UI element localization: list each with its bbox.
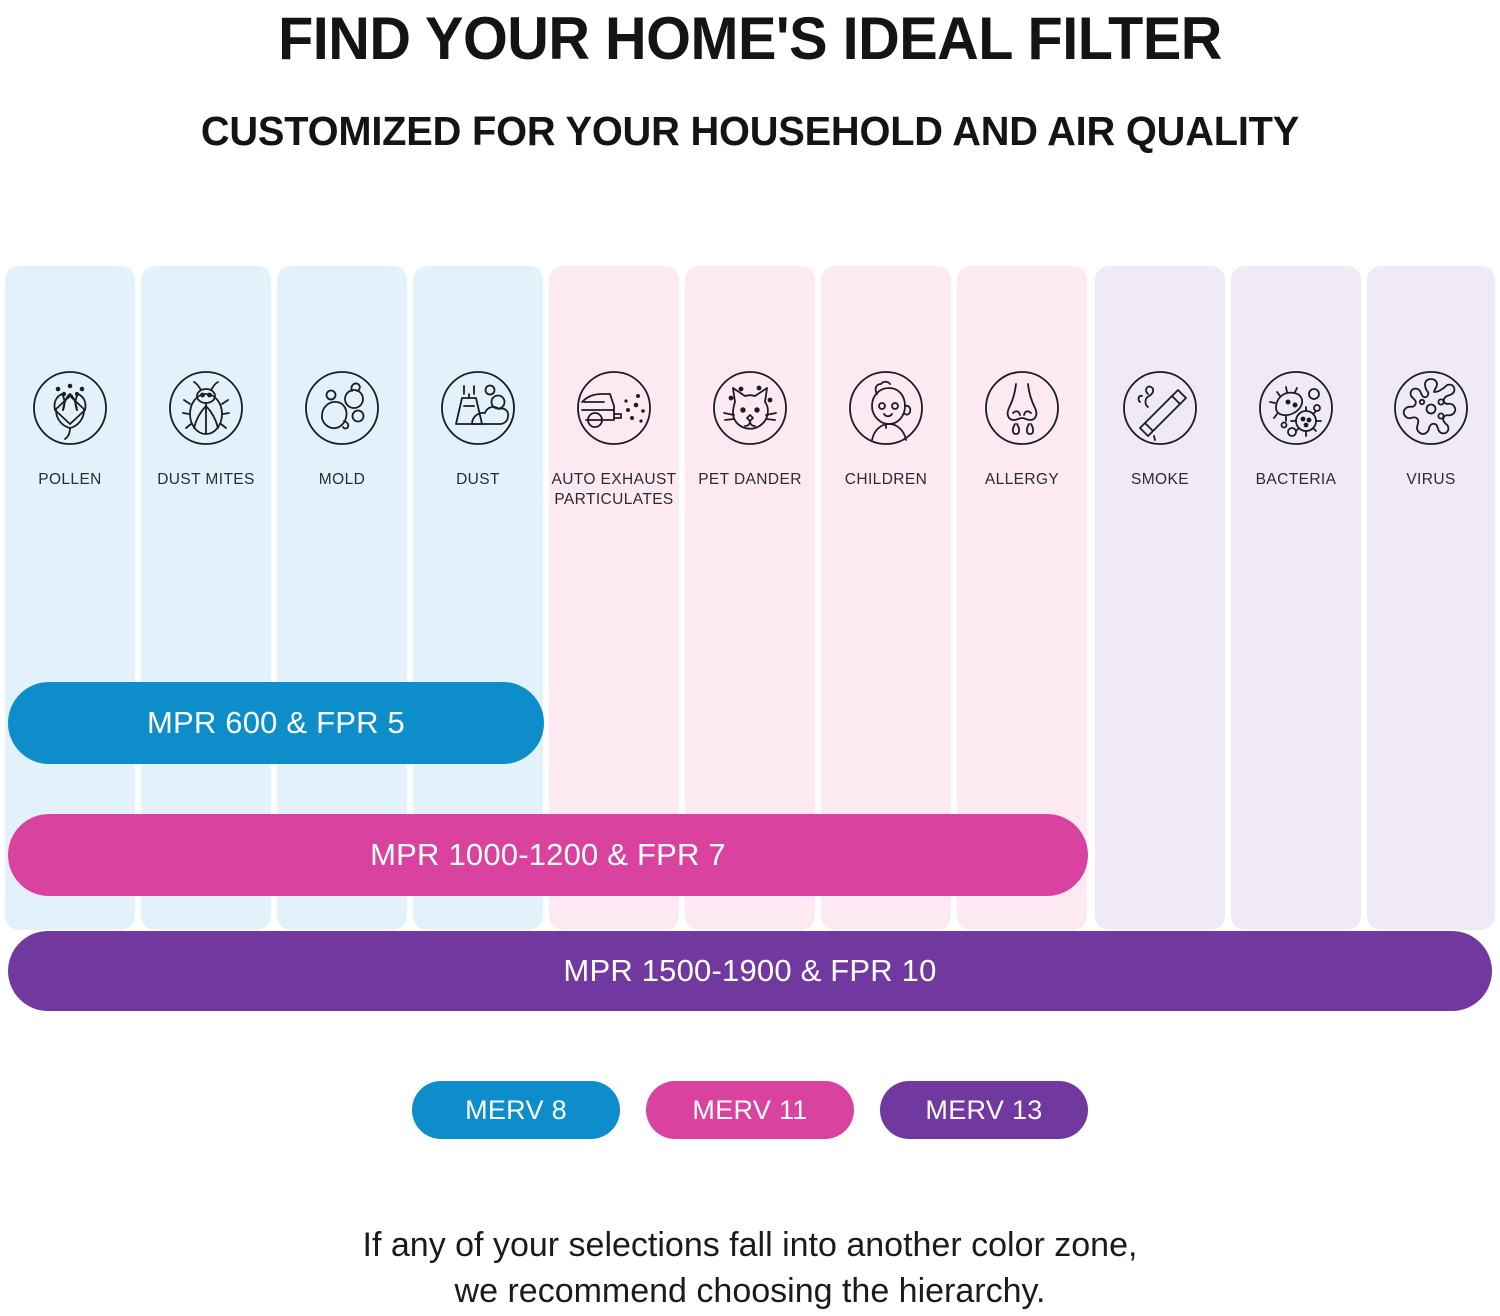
legend-pill-merv13[interactable]: MERV 13: [880, 1081, 1088, 1139]
column-label: PET DANDER: [685, 470, 815, 490]
pollen-icon: [20, 358, 120, 458]
virus-icon: [1381, 358, 1481, 458]
column-label: POLLEN: [5, 470, 135, 490]
rating-bar-mpr1500-1900[interactable]: MPR 1500-1900 & FPR 10: [8, 931, 1492, 1011]
dust-mite-icon: [156, 358, 256, 458]
legend-label: MERV 8: [465, 1095, 567, 1126]
footer-line-2: we recommend choosing the hierarchy.: [0, 1268, 1500, 1314]
rating-bar-label: MPR 1500-1900 & FPR 10: [563, 953, 936, 989]
column-label: AUTO EXHAUST PARTICULATES: [549, 470, 679, 510]
bacteria-icon: [1246, 358, 1346, 458]
mold-icon: [292, 358, 392, 458]
rating-bar-label: MPR 600 & FPR 5: [147, 705, 405, 741]
legend-pill-merv11[interactable]: MERV 11: [646, 1081, 854, 1139]
column-bacteria[interactable]: BACTERIA: [1231, 266, 1361, 930]
column-label: MOLD: [277, 470, 407, 490]
rating-bar-label: MPR 1000-1200 & FPR 7: [370, 837, 726, 873]
allergy-nose-icon: [972, 358, 1072, 458]
rating-bar-mpr1000-1200[interactable]: MPR 1000-1200 & FPR 7: [8, 814, 1088, 896]
footer-note: If any of your selections fall into anot…: [0, 1222, 1500, 1314]
column-label: DUST: [413, 470, 543, 490]
column-label: VIRUS: [1367, 470, 1495, 490]
children-icon: [836, 358, 936, 458]
column-label: BACTERIA: [1231, 470, 1361, 490]
merv-legend: MERV 8 MERV 11 MERV 13: [0, 1081, 1500, 1139]
column-label: ALLERGY: [957, 470, 1087, 490]
column-virus[interactable]: VIRUS: [1367, 266, 1495, 930]
column-label: CHILDREN: [821, 470, 951, 490]
column-label: SMOKE: [1095, 470, 1225, 490]
page-subtitle: CUSTOMIZED FOR YOUR HOUSEHOLD AND AIR QU…: [23, 108, 1478, 155]
page-title: FIND YOUR HOME'S IDEAL FILTER: [30, 4, 1470, 73]
auto-exhaust-icon: [564, 358, 664, 458]
legend-pill-merv8[interactable]: MERV 8: [412, 1081, 620, 1139]
footer-line-1: If any of your selections fall into anot…: [0, 1222, 1500, 1268]
dust-icon: [428, 358, 528, 458]
filter-selection-infographic: FIND YOUR HOME'S IDEAL FILTER CUSTOMIZED…: [0, 0, 1500, 1316]
legend-label: MERV 13: [925, 1095, 1042, 1126]
rating-bar-mpr600[interactable]: MPR 600 & FPR 5: [8, 682, 544, 764]
column-smoke[interactable]: SMOKE: [1095, 266, 1225, 930]
smoke-icon: [1110, 358, 1210, 458]
legend-label: MERV 11: [692, 1095, 807, 1126]
column-label: DUST MITES: [141, 470, 271, 490]
pet-dander-icon: [700, 358, 800, 458]
